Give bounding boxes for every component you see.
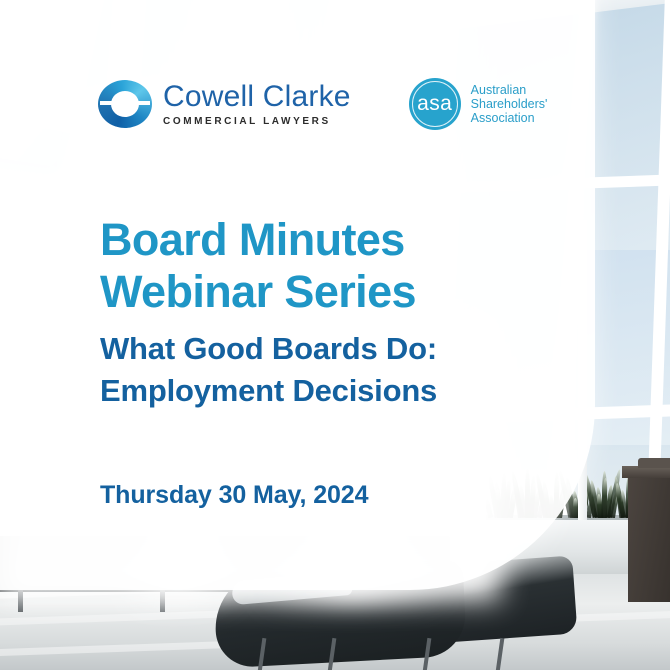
event-date: Thursday 30 May, 2024 bbox=[100, 479, 368, 511]
asa-logo: asa Australian Shareholders' Association bbox=[409, 78, 548, 130]
subhead-line-1: What Good Boards Do: bbox=[100, 328, 437, 370]
page-title: Board Minutes Webinar Series bbox=[100, 214, 416, 318]
asa-name-line3: Association bbox=[471, 111, 548, 125]
dark-cabinet-cap bbox=[638, 458, 670, 468]
headline-line-2: Webinar Series bbox=[100, 266, 416, 318]
asa-name-line2: Shareholders' bbox=[471, 97, 548, 111]
asa-circle-icon: asa bbox=[409, 78, 461, 130]
logo-row: Cowell Clarke COMMERCIAL LAWYERS asa Aus… bbox=[98, 78, 547, 130]
cowell-clarke-ring-icon bbox=[98, 80, 152, 128]
headline-line-1: Board Minutes bbox=[100, 214, 416, 266]
page-subtitle: What Good Boards Do: Employment Decision… bbox=[100, 328, 437, 412]
cowell-clarke-name: Cowell Clarke bbox=[163, 82, 351, 112]
subhead-line-2: Employment Decisions bbox=[100, 370, 437, 412]
cowell-clarke-logo: Cowell Clarke COMMERCIAL LAWYERS bbox=[98, 80, 351, 128]
asa-monogram: asa bbox=[417, 92, 452, 116]
dark-cabinet bbox=[628, 474, 670, 602]
asa-name: Australian Shareholders' Association bbox=[471, 83, 548, 125]
promo-graphic: Cowell Clarke COMMERCIAL LAWYERS asa Aus… bbox=[0, 0, 670, 670]
cowell-clarke-tagline: COMMERCIAL LAWYERS bbox=[163, 117, 351, 127]
asa-name-line1: Australian bbox=[471, 83, 548, 97]
